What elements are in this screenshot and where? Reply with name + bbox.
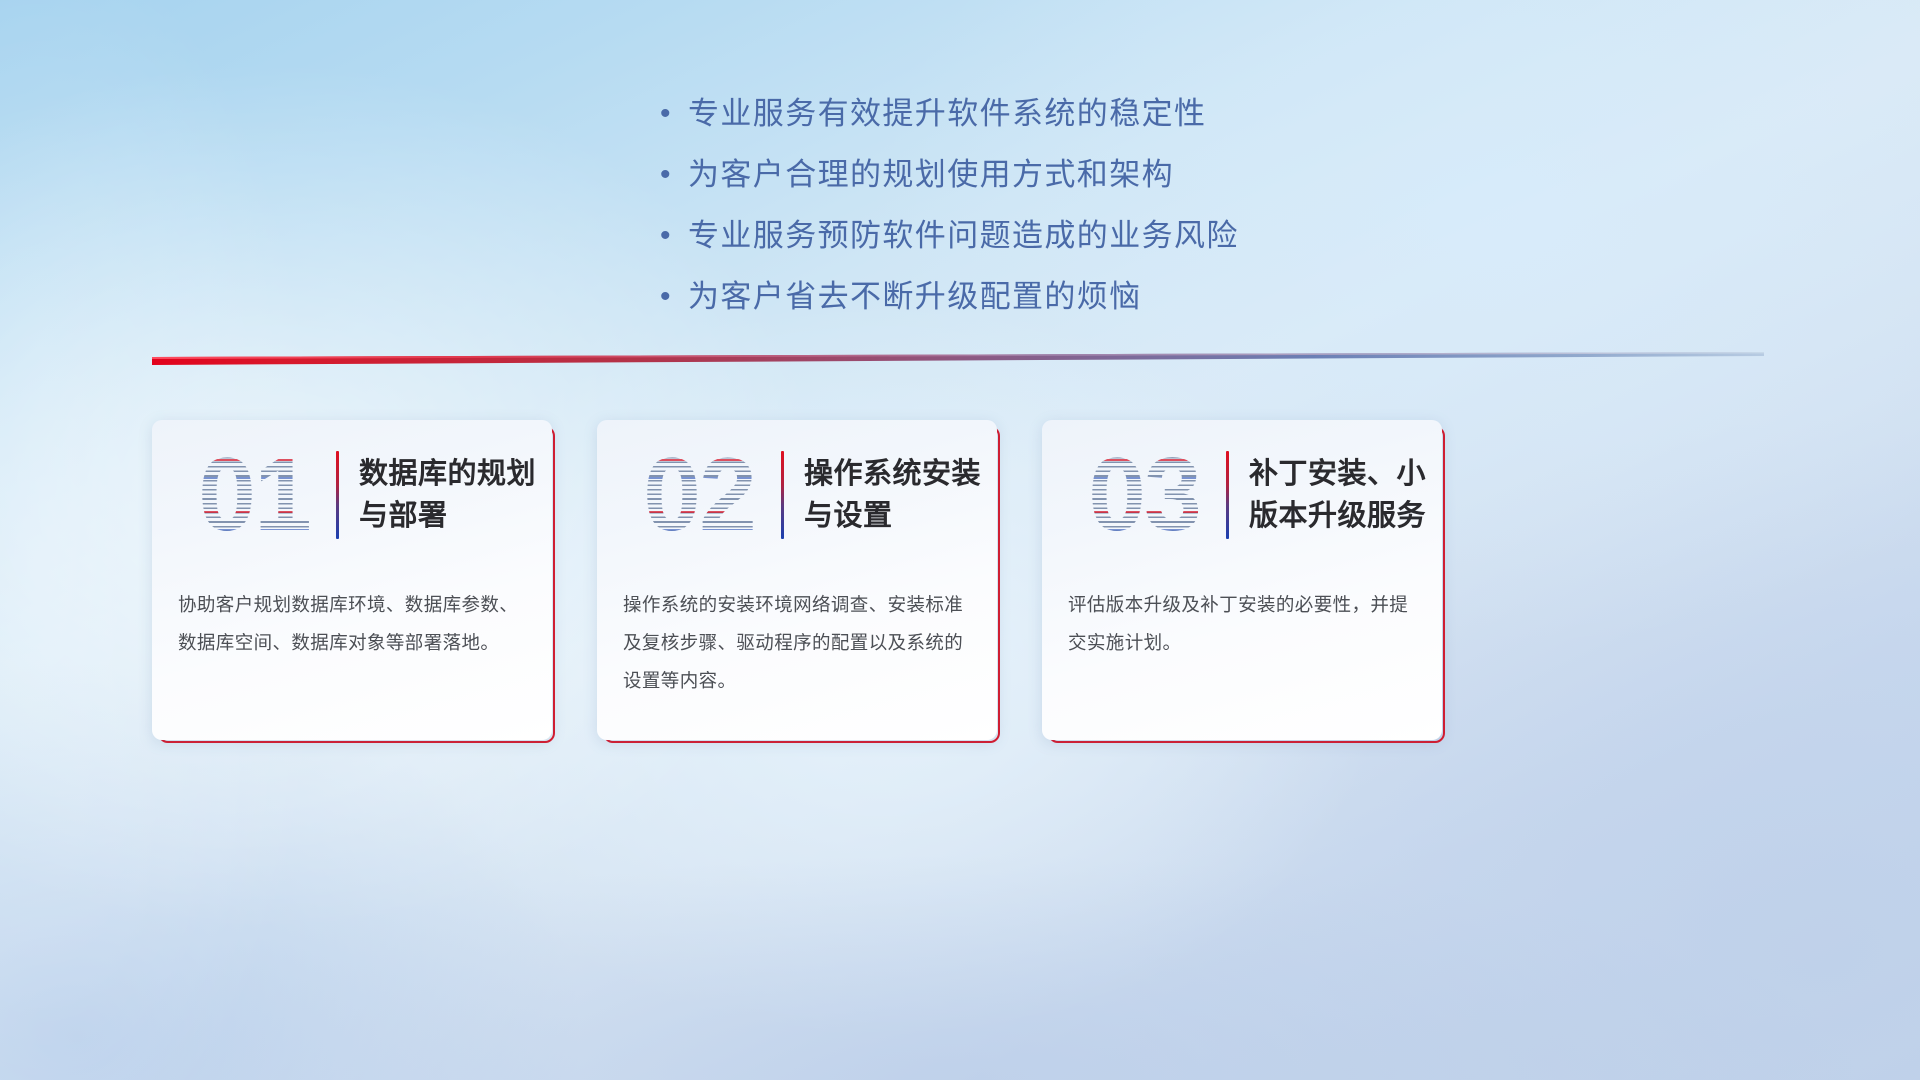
- service-card[interactable]: 01 数据库的规划与部署 协助客户规划数据库环境、数据库参数、数据库空间、数据库…: [152, 420, 552, 740]
- bullet-item: • 为客户合理的规划使用方式和架构: [660, 153, 1420, 197]
- card-description: 协助客户规划数据库环境、数据库参数、数据库空间、数据库对象等部署落地。: [152, 570, 552, 662]
- bullet-item: • 专业服务预防软件问题造成的业务风险: [660, 214, 1420, 258]
- bullet-text: 为客户省去不断升级配置的烦恼: [688, 275, 1142, 319]
- card-title: 补丁安装、小版本升级服务: [1249, 453, 1442, 537]
- service-card[interactable]: 02 操作系统安装与设置 操作系统的安装环境网络调查、安装标准及复核步骤、驱动程…: [597, 420, 997, 740]
- bullet-item: • 为客户省去不断升级配置的烦恼: [660, 275, 1420, 319]
- bullet-text: 专业服务有效提升软件系统的稳定性: [688, 92, 1206, 136]
- bullet-dot-icon: •: [660, 214, 688, 258]
- bullet-text: 专业服务预防软件问题造成的业务风险: [688, 214, 1239, 258]
- card-header: 02 操作系统安装与设置: [597, 420, 997, 570]
- card-description: 评估版本升级及补丁安装的必要性，并提交实施计划。: [1042, 570, 1442, 662]
- card-surface: 01 数据库的规划与部署 协助客户规划数据库环境、数据库参数、数据库空间、数据库…: [152, 420, 552, 740]
- card-surface: 03 补丁安装、小版本升级服务 评估版本升级及补丁安装的必要性，并提交实施计划。: [1042, 420, 1442, 740]
- bullet-text: 为客户合理的规划使用方式和架构: [688, 153, 1174, 197]
- section-divider-wedge: [152, 345, 1764, 367]
- card-header: 03 补丁安装、小版本升级服务: [1042, 420, 1442, 570]
- service-card[interactable]: 03 补丁安装、小版本升级服务 评估版本升级及补丁安装的必要性，并提交实施计划。: [1042, 420, 1442, 740]
- bullet-dot-icon: •: [660, 275, 688, 319]
- card-description: 操作系统的安装环境网络调查、安装标准及复核步骤、驱动程序的配置以及系统的设置等内…: [597, 570, 997, 700]
- title-accent-bar: [781, 451, 784, 539]
- card-header: 01 数据库的规划与部署: [152, 420, 552, 570]
- card-number-03: 03: [1064, 443, 1224, 547]
- bullet-dot-icon: •: [660, 92, 688, 136]
- service-card-list: 01 数据库的规划与部署 协助客户规划数据库环境、数据库参数、数据库空间、数据库…: [152, 420, 1772, 745]
- card-number-02: 02: [619, 443, 779, 547]
- card-title: 数据库的规划与部署: [359, 453, 552, 537]
- card-title: 操作系统安装与设置: [804, 453, 997, 537]
- benefits-bullet-list: • 专业服务有效提升软件系统的稳定性 • 为客户合理的规划使用方式和架构 • 专…: [660, 92, 1420, 336]
- card-number-01: 01: [174, 443, 334, 547]
- slide-canvas: • 专业服务有效提升软件系统的稳定性 • 为客户合理的规划使用方式和架构 • 专…: [0, 0, 1920, 1080]
- title-accent-bar: [336, 451, 339, 539]
- bullet-dot-icon: •: [660, 153, 688, 197]
- bullet-item: • 专业服务有效提升软件系统的稳定性: [660, 92, 1420, 136]
- title-accent-bar: [1226, 451, 1229, 539]
- card-surface: 02 操作系统安装与设置 操作系统的安装环境网络调查、安装标准及复核步骤、驱动程…: [597, 420, 997, 740]
